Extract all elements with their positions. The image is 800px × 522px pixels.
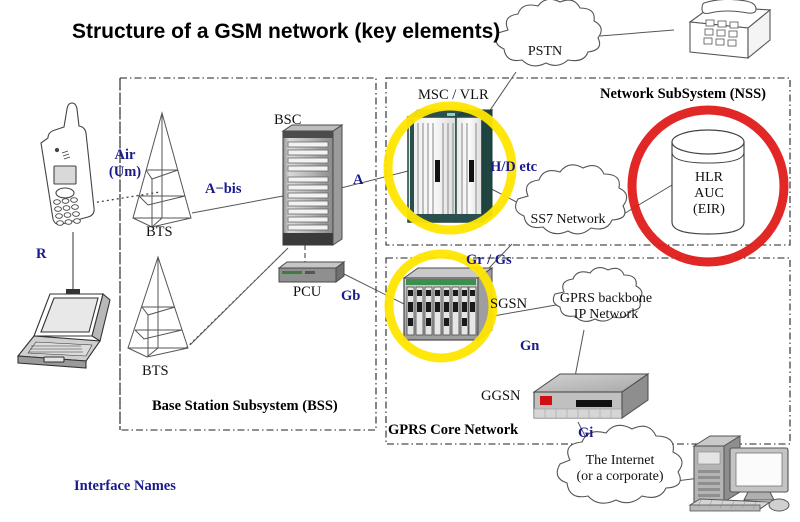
interface-label-abis: A−bis: [205, 181, 241, 198]
interface-label-gi: Gi: [578, 425, 593, 442]
interface-um-line-2: (Um): [103, 164, 147, 181]
cloud-label-internet: The Internet (or a corporate): [560, 453, 680, 485]
cloud-label-gprs-backbone: GPRS backbone IP Network: [554, 291, 658, 323]
hlr-database-label: HLR AUC (EIR): [682, 170, 736, 218]
cloud-internet-line-2: (or a corporate): [560, 469, 680, 485]
node-label-bts1: BTS: [146, 224, 173, 241]
interface-label-gr-gs: Gr / Gs: [466, 252, 512, 269]
zone-label-gprs: GPRS Core Network: [388, 422, 518, 439]
cloud-internet-line-1: The Internet: [560, 453, 680, 469]
interface-label-a: A: [353, 172, 363, 189]
node-label-pcu: PCU: [293, 284, 321, 301]
zone-label-bss: Base Station Subsystem (BSS): [152, 398, 338, 415]
cloud-backbone-line-2: IP Network: [554, 307, 658, 323]
highlight-ring-sgsn: [389, 254, 493, 358]
node-label-bts2: BTS: [142, 363, 169, 380]
hlr-line-3: (EIR): [682, 202, 736, 218]
gsm-network-diagram: Structure of a GSM network (key elements…: [0, 0, 800, 522]
node-label-ggsn: GGSN: [481, 388, 520, 405]
node-label-msc-vlr: MSC / VLR: [418, 87, 489, 104]
interface-label-um: Air (Um): [103, 147, 147, 181]
cloud-backbone-line-1: GPRS backbone: [554, 291, 658, 307]
interface-um-line-1: Air: [103, 147, 147, 164]
interface-label-r: R: [36, 246, 46, 263]
cloud-label-pstn: PSTN: [508, 44, 582, 60]
node-label-sgsn: SGSN: [490, 296, 527, 313]
hlr-line-1: HLR: [682, 170, 736, 186]
hlr-line-2: AUC: [682, 186, 736, 202]
highlight-rings: [0, 0, 800, 522]
node-label-bsc: BSC: [274, 112, 301, 129]
page-title: Structure of a GSM network (key elements…: [72, 20, 500, 44]
cloud-label-ss7: SS7 Network: [520, 212, 616, 228]
interface-label-gb: Gb: [341, 288, 360, 305]
zone-label-nss: Network SubSystem (NSS): [600, 86, 766, 103]
legend-interface-names: Interface Names: [74, 478, 176, 495]
interface-label-gn: Gn: [520, 338, 539, 355]
interface-label-hd: H/D etc: [490, 159, 537, 176]
